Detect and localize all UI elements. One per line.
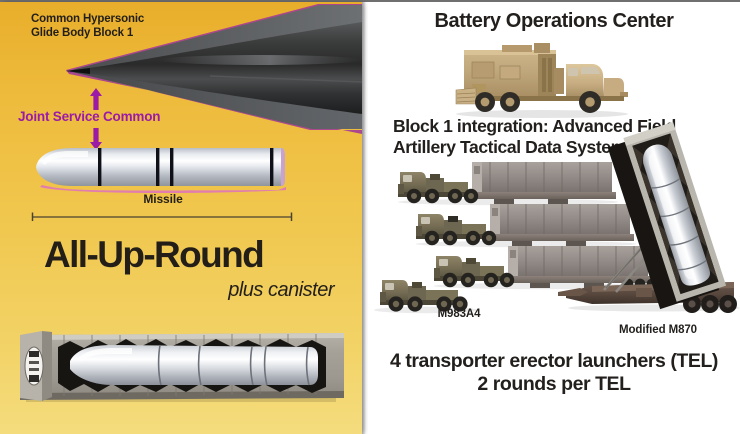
right-white-panel: Battery Operations Center [368, 2, 740, 434]
m983a4-truck-label: M983A4 [399, 308, 519, 320]
plus-canister-subtitle: plus canister [44, 279, 334, 302]
arrow-up-icon [89, 88, 103, 110]
missile-dimension-line [31, 208, 293, 217]
canister-cutaway-illustration [12, 325, 352, 415]
battery-operations-center-truck-illustration [442, 40, 642, 120]
all-up-round-title: All-Up-Round [44, 235, 334, 275]
battery-operations-center-title: Battery Operations Center [368, 10, 740, 33]
tel-summary-line1: 4 transporter erector launchers (TEL) [368, 350, 740, 373]
modified-m870-label: Modified M870 [583, 324, 733, 336]
tel-summary-line2: 2 rounds per TEL [368, 373, 740, 396]
infographic-root: Common Hypersonic Glide Body Block 1 Joi… [0, 0, 740, 434]
joint-service-common-label: Joint Service Common [18, 109, 198, 124]
glide-body-caption-line1: Common Hypersonic [31, 12, 191, 26]
glide-body-caption-line2: Glide Body Block 1 [31, 26, 191, 40]
missile-illustration [28, 145, 298, 195]
glide-body-caption: Common Hypersonic Glide Body Block 1 [31, 12, 191, 40]
left-yellow-panel: Common Hypersonic Glide Body Block 1 Joi… [0, 2, 362, 434]
erected-launcher-illustration [558, 142, 740, 332]
missile-label: Missile [28, 192, 298, 206]
tel-summary-caption: 4 transporter erector launchers (TEL) 2 … [368, 350, 740, 396]
